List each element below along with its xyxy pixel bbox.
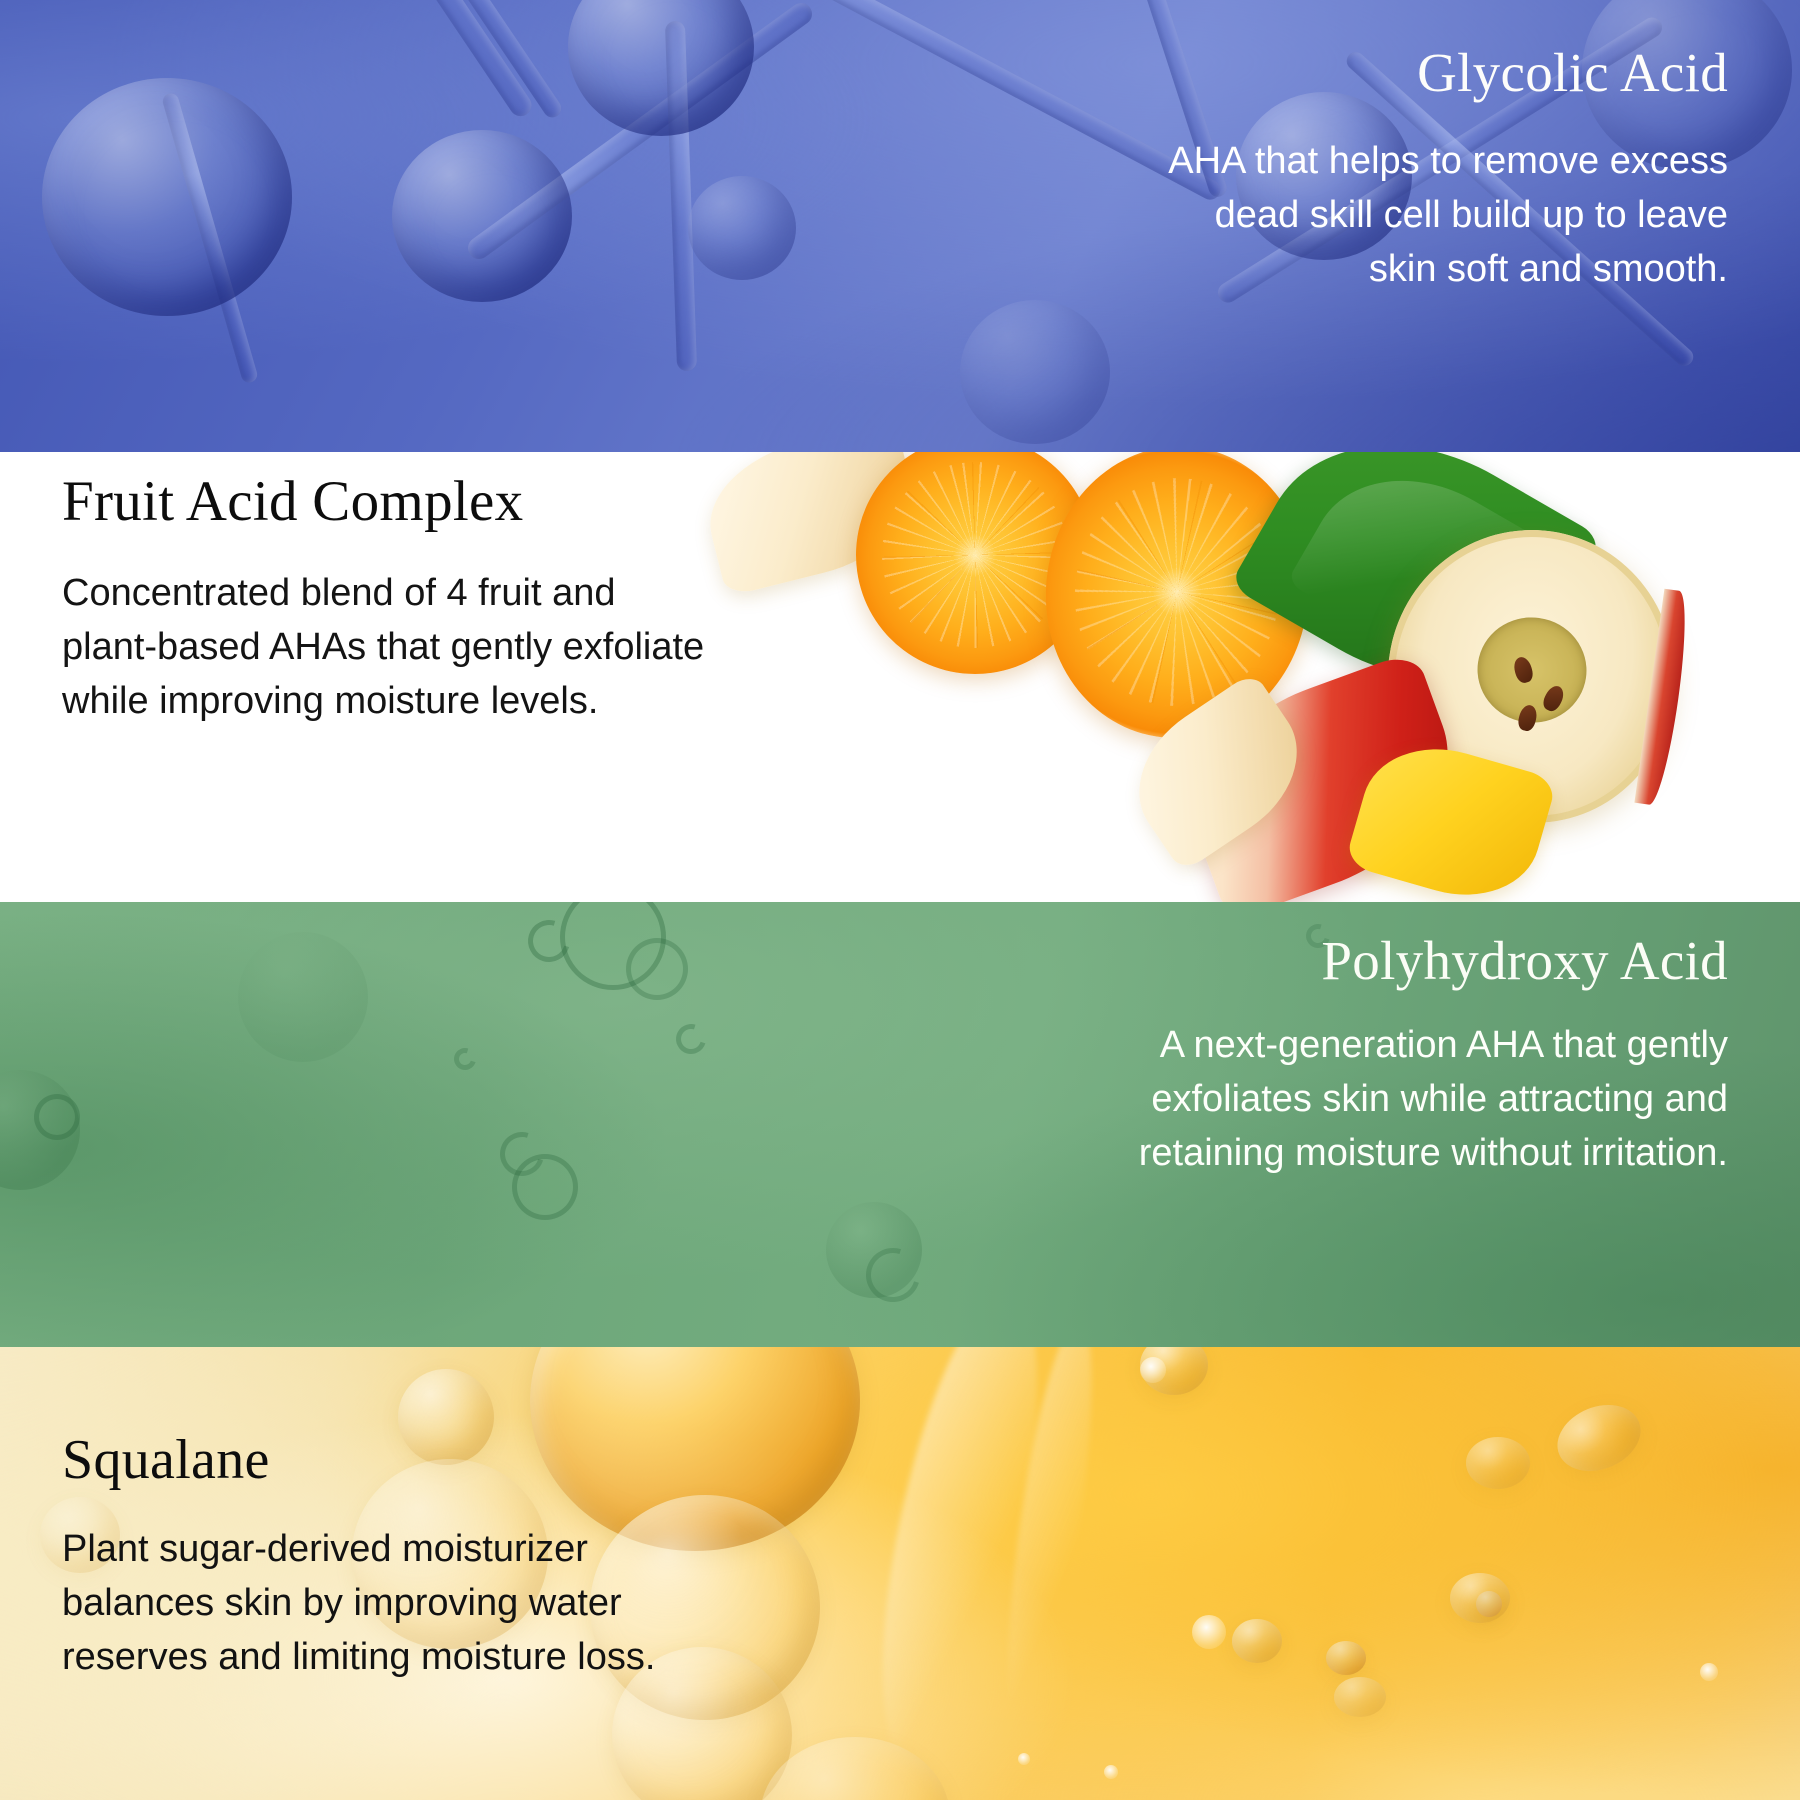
gel-bubble: [34, 1094, 80, 1140]
fruit-desc-line: Concentrated blend of 4 fruit and: [62, 567, 1082, 621]
light-sparkle: [1140, 1357, 1166, 1383]
fruit-title: Fruit Acid Complex: [62, 472, 1082, 531]
oil-droplet: [1326, 1641, 1366, 1675]
light-sparkle: [1104, 1765, 1118, 1779]
molecule-sphere: [960, 300, 1110, 444]
panel-polyhydroxy-acid: Polyhydroxy Acid A next-generation AHA t…: [0, 902, 1800, 1347]
light-sparkle: [1192, 1615, 1226, 1649]
fruit-desc-line: while improving moisture levels.: [62, 675, 1082, 729]
glycolic-desc-line: skin soft and smooth.: [748, 243, 1728, 297]
molecule-sphere: [392, 130, 572, 302]
gel-bubble: [238, 932, 368, 1062]
polyhydroxy-desc-line: retaining moisture without irritation.: [698, 1127, 1728, 1181]
squalane-desc-line: balances skin by improving water: [62, 1577, 1082, 1631]
oil-droplet: [1476, 1591, 1502, 1617]
glycolic-description: AHA that helps to remove excess dead ski…: [748, 135, 1728, 297]
glycolic-desc-line: AHA that helps to remove excess: [748, 135, 1728, 189]
ingredient-infographic: Glycolic Acid AHA that helps to remove e…: [0, 0, 1800, 1800]
polyhydroxy-description: A next-generation AHA that gently exfoli…: [698, 1019, 1728, 1181]
panel-fruit-acid-complex: Fruit Acid Complex Concentrated blend of…: [0, 452, 1800, 902]
glycolic-text-block: Glycolic Acid AHA that helps to remove e…: [748, 44, 1728, 297]
polyhydroxy-desc-line: exfoliates skin while attracting and: [698, 1073, 1728, 1127]
polyhydroxy-text-block: Polyhydroxy Acid A next-generation AHA t…: [698, 932, 1728, 1181]
panel-glycolic-acid: Glycolic Acid AHA that helps to remove e…: [0, 0, 1800, 452]
gel-bubble: [512, 1154, 578, 1220]
apple-skin: [1635, 589, 1693, 807]
squalane-description: Plant sugar-derived moisturizer balances…: [62, 1523, 1082, 1685]
light-sparkle: [1700, 1663, 1718, 1681]
panel-squalane: Squalane Plant sugar-derived moisturizer…: [0, 1347, 1800, 1800]
squalane-desc-line: Plant sugar-derived moisturizer: [62, 1523, 1082, 1577]
squalane-desc-line: reserves and limiting moisture loss.: [62, 1631, 1082, 1685]
squalane-title: Squalane: [62, 1431, 1082, 1489]
light-sparkle: [1018, 1753, 1030, 1765]
oil-droplet: [1334, 1677, 1386, 1717]
fruit-text-block: Fruit Acid Complex Concentrated blend of…: [62, 472, 1082, 729]
fruit-description: Concentrated blend of 4 fruit and plant-…: [62, 567, 1082, 729]
glycolic-title: Glycolic Acid: [748, 44, 1728, 101]
oil-droplet: [1466, 1437, 1530, 1489]
molecule-sphere: [42, 78, 292, 316]
polyhydroxy-desc-line: A next-generation AHA that gently: [698, 1019, 1728, 1073]
squalane-text-block: Squalane Plant sugar-derived moisturizer…: [62, 1431, 1082, 1685]
fruit-desc-line: plant-based AHAs that gently exfoliate: [62, 621, 1082, 675]
glycolic-desc-line: dead skill cell build up to leave: [748, 189, 1728, 243]
polyhydroxy-title: Polyhydroxy Acid: [698, 932, 1728, 989]
oil-droplet: [1232, 1619, 1282, 1663]
gel-bubble: [626, 938, 688, 1000]
